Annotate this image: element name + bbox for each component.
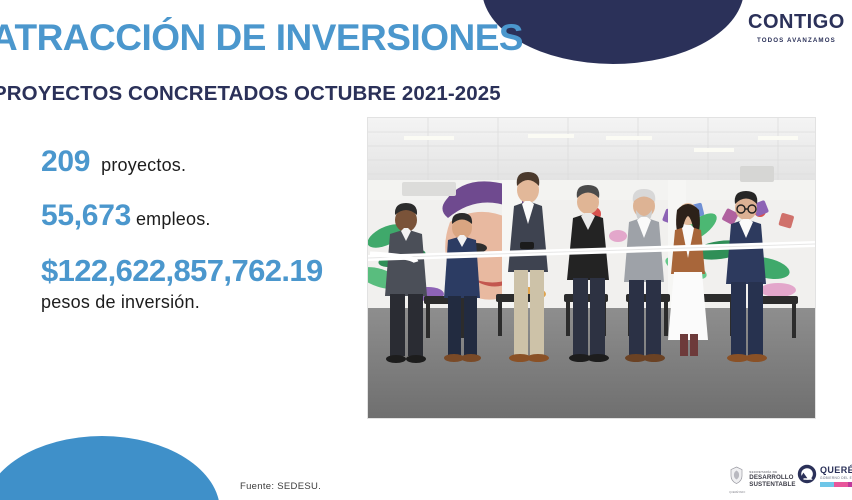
sedesu-seal-icon: QUERÉTARO: [729, 466, 745, 494]
stat-label-investment: pesos de inversión.: [41, 292, 361, 313]
stat-item-projects: 209 proyectos.: [41, 145, 361, 179]
stat-value-jobs: 55,673: [41, 199, 131, 233]
queretaro-logo: QUERÉTARO GOBIERNO DEL ESTADO: [797, 464, 852, 489]
blue-circle-decoration: [0, 436, 220, 500]
sedesu-wordmark: SECRETARÍA DE DESARROLLO SUSTENTABLE: [749, 471, 795, 488]
queretaro-name: QUERÉTARO: [820, 466, 852, 475]
source-note: Fuente: SEDESU.: [240, 481, 321, 492]
queretaro-bar-3: [848, 482, 852, 487]
queretaro-color-bars: [820, 482, 852, 487]
statistics-group: 209 proyectos. 55,673 empleos. $122,622,…: [41, 145, 361, 313]
stat-item-investment: $122,622,857,762.19 pesos de inversión.: [41, 253, 361, 313]
contigo-logo-tagline: TODOS AVANZAMOS: [748, 37, 845, 44]
page-title: ATRACCIÓN DE INVERSIONES: [0, 17, 523, 59]
stat-label-jobs: empleos.: [136, 209, 211, 230]
queretaro-bar-1: [820, 482, 834, 487]
ceremony-photo-image: [368, 118, 815, 418]
stat-item-jobs: 55,673 empleos.: [41, 199, 361, 233]
queretaro-tagline: GOBIERNO DEL ESTADO: [820, 477, 852, 480]
contigo-logo: CONTIGO TODOS AVANZAMOS: [748, 12, 845, 44]
sedesu-logo: QUERÉTARO SECRETARÍA DE DESARROLLO SUSTE…: [729, 466, 796, 494]
ceremony-photo: [368, 118, 815, 418]
slide-canvas: CONTIGO TODOS AVANZAMOS ATRACCIÓN DE INV…: [0, 0, 852, 500]
page-subtitle: PROYECTOS CONCRETADOS OCTUBRE 2021-2025: [0, 82, 501, 106]
sedesu-seal-label: QUERÉTARO: [729, 491, 745, 494]
queretaro-bar-2: [834, 482, 848, 487]
stat-value-projects: 209: [41, 145, 90, 179]
contigo-logo-word: CONTIGO: [748, 12, 845, 32]
stat-value-investment: $122,622,857,762.19: [41, 253, 361, 289]
stat-label-projects: proyectos.: [101, 155, 186, 176]
sedesu-line3: SUSTENTABLE: [749, 482, 795, 489]
queretaro-q-icon: [797, 464, 817, 489]
queretaro-wordmark: QUERÉTARO GOBIERNO DEL ESTADO: [820, 466, 852, 487]
